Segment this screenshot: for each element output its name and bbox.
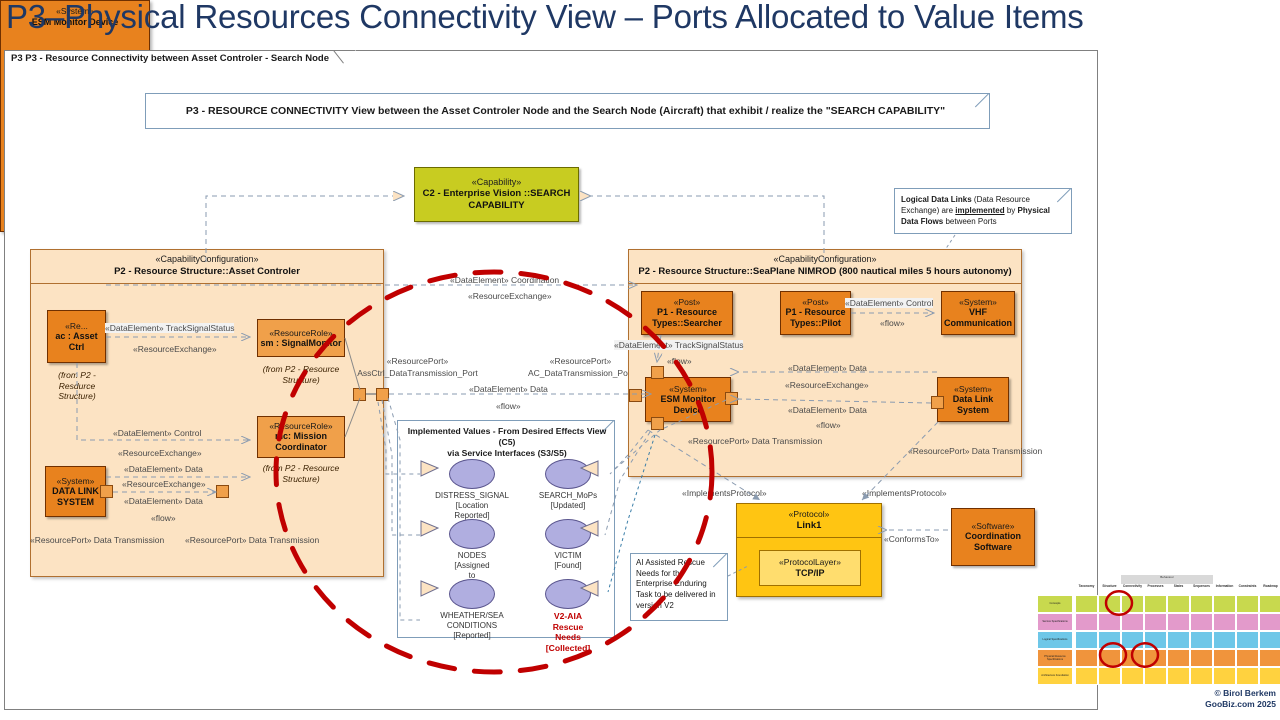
ldl-l2-physical: Physical: [1018, 206, 1050, 215]
element-asset-ctrl[interactable]: «Re... ac : Asset Ctrl: [47, 310, 106, 363]
esm-right-stereotype: «System»: [669, 384, 707, 394]
value-oval-icon: [449, 519, 495, 549]
value-oval-icon: [545, 459, 591, 489]
ldl-l3-rest: between Ports: [943, 217, 996, 226]
ldl-l3-bold: Data Flows: [901, 217, 943, 226]
port-label-dls-right: «ResourcePort» Data Transmission: [908, 446, 1016, 456]
label-flow-right-top: «flow»: [667, 356, 692, 366]
cfg-left-stereotype: «CapabilityConfiguration»: [37, 254, 377, 266]
mission-coordinator-name-line2: Coordinator: [275, 442, 327, 453]
note-fold-icon: [707, 554, 727, 574]
asset-ctrl-name-line2: Ctrl: [69, 342, 85, 353]
copyright-line1: © Birol Berkem: [1130, 688, 1276, 699]
label-control-left: «DataElement» Control: [113, 428, 201, 438]
matrix-highlight-rings: [1037, 573, 1277, 685]
label-resource-port-left-name: AssCtrl_DataTransmission_Port: [350, 368, 485, 378]
element-data-link-system-left[interactable]: «System» DATA LINK SYSTEM: [45, 466, 106, 517]
signal-monitor-stereotype: «ResourceRole»: [269, 328, 332, 338]
dls-left-name-line2: SYSTEM: [57, 497, 94, 508]
capability-stereotype: «Capability»: [472, 177, 522, 188]
value-item[interactable]: SEARCH_MoPs[Updated]: [520, 459, 616, 511]
port-esm-left-right[interactable]: [353, 388, 366, 401]
searcher-name-line1: P1 - Resource: [657, 307, 717, 318]
label-resource-port-left-stereotype: «ResourcePort»: [355, 356, 480, 366]
signal-monitor-name: sm : SignalMonitor: [261, 338, 342, 349]
label-flow-mid: «flow»: [496, 401, 521, 411]
mission-coordinator-stereotype: «ResourceRole»: [269, 421, 332, 431]
naf-grid-thumbnail[interactable]: BehaviourTaxonomyStructureConnectivityPr…: [1037, 573, 1277, 685]
value-item-label: DISTRESS_SIGNAL[LocationReported]: [424, 491, 520, 521]
pilot-name-line1: P1 - Resource: [785, 307, 845, 318]
label-track-signal-status-left: «DataElement» TrackSignalStatus: [105, 323, 234, 333]
element-vhf-communication[interactable]: «System» VHF Communication: [941, 291, 1015, 335]
element-data-link-system-right[interactable]: «System» Data Link System: [937, 377, 1009, 422]
ldl-l2-a: Exchange) are: [901, 206, 955, 215]
asset-ctrl-from-label: (from P2 - Resdurce Structure): [42, 370, 112, 402]
label-resource-exchange-3: «ResourceExchange»: [122, 479, 206, 489]
port-esm-right-top[interactable]: [651, 366, 664, 379]
asset-ctrl-name-line1: ac : Asset: [55, 331, 97, 342]
values-note-title: Implemented Values - From Desired Effect…: [404, 426, 610, 460]
mission-coordinator-name-line1: mc: Mission: [275, 431, 327, 442]
searcher-name-line2: Types::Searcher: [652, 318, 722, 329]
searcher-stereotype: «Post»: [674, 297, 700, 307]
label-coordination: «DataElement» Coordination: [450, 275, 559, 285]
label-data-right-1: «DataElement» Data: [788, 363, 867, 373]
port-label-esm-right: «ResourcePort» Data Transmission: [688, 436, 796, 446]
copyright: © Birol Berkem GooBiz.com 2025: [1130, 688, 1276, 710]
protocol-name: Link1: [737, 520, 881, 532]
label-data-left-1: «DataElement» Data: [124, 464, 203, 474]
signal-monitor-from-label: (from P2 - Resource Structure): [245, 364, 357, 385]
label-implements-protocol-1: «ImplementsProtocol»: [682, 488, 767, 498]
header-note: P3 - RESOURCE CONNECTIVITY View between …: [145, 93, 990, 129]
protocol-layer-name: TCP/IP: [795, 568, 824, 579]
value-item-label: SEARCH_MoPs[Updated]: [520, 491, 616, 511]
note-fold-icon: [969, 94, 989, 114]
value-item-label: WHEATHER/SEACONDITIONS[Reported]: [424, 611, 520, 641]
ldl-l1-rest: (Data Resource: [972, 195, 1030, 204]
frame-tab-corner-icon: [333, 51, 353, 69]
vhf-name-line2: Communication: [944, 318, 1012, 329]
implemented-values-note: Implemented Values - From Desired Effect…: [397, 420, 615, 638]
ai-assisted-rescue-note: AI Assisted Rescue Needs for the Enterpr…: [630, 553, 728, 621]
port-esm-left-bottom[interactable]: [216, 485, 229, 498]
port-esm-right-left[interactable]: [629, 389, 642, 402]
label-conforms-to: «ConformsTo»: [884, 534, 939, 544]
label-resource-exchange-right: «ResourceExchange»: [785, 380, 869, 390]
port-dls-right[interactable]: [931, 396, 944, 409]
element-searcher[interactable]: «Post» P1 - Resource Types::Searcher: [641, 291, 733, 335]
label-resource-exchange-1: «ResourceExchange»: [133, 344, 217, 354]
frame-tab: P3 P3 - Resource Connectivity between As…: [4, 50, 356, 68]
cfg-left-header: «CapabilityConfiguration» P2 - Resource …: [31, 250, 383, 284]
protocol-layer-stereotype: «ProtocolLayer»: [779, 557, 841, 568]
label-flow-left: «flow»: [151, 513, 176, 523]
element-protocol-link1[interactable]: «Protocol» Link1 «ProtocolLayer» TCP/IP: [736, 503, 882, 597]
port-label-dls-left: «ResourcePort» Data Transmission: [30, 535, 150, 545]
capability-name-line2: CAPABILITY: [468, 200, 524, 212]
esm-right-name-line1: ESM Monitor: [661, 394, 716, 405]
port-esm-right-right[interactable]: [725, 392, 738, 405]
dls-right-name-line1: Data Link: [953, 394, 994, 405]
value-oval-icon: [545, 579, 591, 609]
capability-name-line1: C2 - Enterprise Vision ::SEARCH: [423, 188, 571, 200]
pilot-name-line2: Types::Pilot: [790, 318, 841, 329]
cfg-right-header: «CapabilityConfiguration» P2 - Resource …: [629, 250, 1021, 284]
value-item[interactable]: DISTRESS_SIGNAL[LocationReported]: [424, 459, 520, 521]
cfg-left-name: P2 - Resource Structure::Asset Controler: [37, 266, 377, 278]
port-label-esm-left: «ResourcePort» Data Transmission: [185, 535, 315, 545]
capability-configuration-asset-controler[interactable]: «CapabilityConfiguration» P2 - Resource …: [30, 249, 384, 577]
asset-ctrl-stereotype: «Re...: [65, 321, 88, 331]
dls-left-stereotype: «System»: [57, 476, 95, 486]
value-item[interactable]: WHEATHER/SEACONDITIONS[Reported]: [424, 579, 520, 641]
header-note-text: P3 - RESOURCE CONNECTIVITY View between …: [176, 104, 959, 118]
port-dls-left[interactable]: [100, 485, 113, 498]
protocol-header: «Protocol» Link1: [737, 504, 881, 538]
element-protocol-layer-tcpip[interactable]: «ProtocolLayer» TCP/IP: [759, 550, 861, 586]
vhf-name-line1: VHF: [969, 307, 987, 318]
vhf-stereotype: «System»: [959, 297, 997, 307]
element-coordination-software[interactable]: «Software» Coordination Software: [951, 508, 1035, 566]
label-data-right-2: «DataElement» Data: [788, 405, 867, 415]
value-item[interactable]: VICTIM[Found]: [520, 519, 616, 571]
protocol-stereotype: «Protocol»: [737, 509, 881, 520]
pilot-stereotype: «Post»: [802, 297, 828, 307]
value-item-label: VICTIM[Found]: [520, 551, 616, 571]
mission-coordinator-from-label: (from P2 - Resource Structure): [245, 463, 357, 484]
value-oval-icon: [545, 519, 591, 549]
logical-data-links-note: Logical Data Links (Data Resource Exchan…: [894, 188, 1072, 234]
esm-right-name-line2: Device: [673, 405, 702, 416]
port-esm-right-bottom[interactable]: [651, 417, 664, 430]
logical-data-links-text: Logical Data Links (Data Resource Exchan…: [901, 194, 1065, 228]
role-mission-coordinator[interactable]: «ResourceRole» mc: Mission Coordinator: [257, 416, 345, 458]
note-fold-icon: [1051, 189, 1071, 209]
software-stereotype: «Software»: [972, 521, 1015, 531]
ldl-l2-implemented: implemented: [955, 206, 1004, 215]
dls-right-name-line2: System: [957, 405, 989, 416]
dls-right-stereotype: «System»: [954, 384, 992, 394]
frame-tab-label: P3 P3 - Resource Connectivity between As…: [11, 53, 329, 64]
diagram-page: P3–Physical Resources Connectivity View …: [0, 0, 1280, 720]
value-item-label: V2-AIARescueNeeds[Collected]: [520, 611, 616, 654]
ldl-l1-bold: Logical Data Links: [901, 195, 972, 204]
port-asstctrl-datatransmission[interactable]: [376, 388, 389, 401]
label-flow-right: «flow»: [880, 318, 905, 328]
label-data-left-2: «DataElement» Data: [124, 496, 203, 506]
capability-search-capability[interactable]: «Capability» C2 - Enterprise Vision ::SE…: [414, 167, 579, 222]
page-title: P3–Physical Resources Connectivity View …: [6, 0, 1276, 46]
label-flow-right-2: «flow»: [816, 420, 841, 430]
label-resource-exchange-2: «ResourceExchange»: [118, 448, 202, 458]
label-data-mid: «DataElement» Data: [469, 384, 548, 394]
cfg-right-stereotype: «CapabilityConfiguration»: [635, 254, 1015, 266]
label-implements-protocol-2: «ImplementsProtocol»: [862, 488, 947, 498]
cfg-right-name: P2 - Resource Structure::SeaPlane NIMROD…: [635, 266, 1015, 278]
label-resource-port-mid-stereotype: «ResourcePort»: [518, 356, 643, 366]
element-esm-monitor-device-right[interactable]: «System» ESM Monitor Device: [645, 377, 731, 422]
role-signal-monitor[interactable]: «ResourceRole» sm : SignalMonitor: [257, 319, 345, 357]
dls-left-name-line1: DATA LINK: [52, 486, 99, 497]
value-oval-icon: [449, 459, 495, 489]
label-control-right: «DataElement» Control: [845, 298, 933, 308]
software-name-line1: Coordination: [965, 531, 1021, 542]
value-oval-icon: [449, 579, 495, 609]
software-name-line2: Software: [974, 542, 1012, 553]
ldl-l2-b: by: [1005, 206, 1018, 215]
copyright-line2: GooBiz.com 2025: [1130, 699, 1276, 710]
element-pilot[interactable]: «Post» P1 - Resource Types::Pilot: [780, 291, 851, 335]
label-track-signal-status-right: «DataElement» TrackSignalStatus: [614, 340, 743, 350]
label-resource-exchange-mid: «ResourceExchange»: [468, 291, 552, 301]
value-item[interactable]: V2-AIARescueNeeds[Collected]: [520, 579, 616, 654]
